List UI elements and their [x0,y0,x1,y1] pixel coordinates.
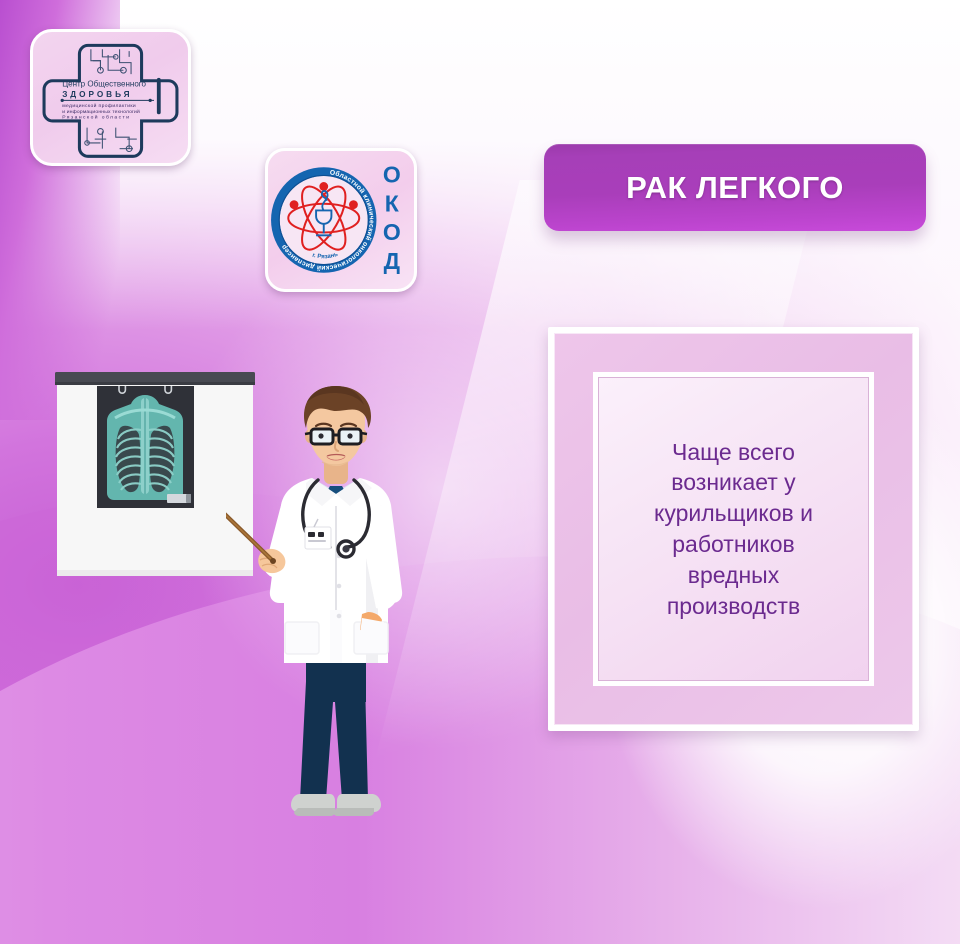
fact-line: производств [654,591,813,622]
svg-text:Центр Общественного: Центр Общественного [62,80,146,89]
center-public-health-icon: Центр Общественного ЗДОРОВЬЯ медицинской… [33,32,188,163]
okod-icon: Областной клинический онкологический дис… [268,151,414,289]
doctor-illustration [226,380,446,840]
svg-text:О: О [383,162,401,188]
fact-line: Чаще всего [654,437,813,468]
svg-text:О: О [383,219,401,245]
fact-line: работников [654,529,813,560]
logo-center-public-health: Центр Общественного ЗДОРОВЬЯ медицинской… [30,29,191,166]
svg-text:К: К [385,190,400,216]
fact-line: вредных [654,560,813,591]
fact-line: курильщиков и [654,498,813,529]
whiteboard-xray-icon [55,368,255,608]
svg-text:ЗДОРОВЬЯ: ЗДОРОВЬЯ [62,90,132,99]
poster-canvas: Центр Общественного ЗДОРОВЬЯ медицинской… [0,0,960,944]
fact-panel-frame: Чаще всего возникает у курильщиков и раб… [548,327,919,731]
logo-okod: Областной клинический онкологический дис… [265,148,417,292]
doctor-icon [226,380,446,840]
page-title: РАК ЛЕГКОГО [626,170,844,206]
fact-panel-inner: Чаще всего возникает у курильщиков и раб… [593,372,874,686]
whiteboard [55,368,255,608]
fact-panel-mat: Чаще всего возникает у курильщиков и раб… [554,333,913,725]
title-banner: РАК ЛЕГКОГО [544,144,926,231]
fact-panel-text: Чаще всего возникает у курильщиков и раб… [654,437,813,622]
svg-text:Д: Д [384,248,400,274]
head [304,386,371,466]
fact-line: возникает у [654,467,813,498]
